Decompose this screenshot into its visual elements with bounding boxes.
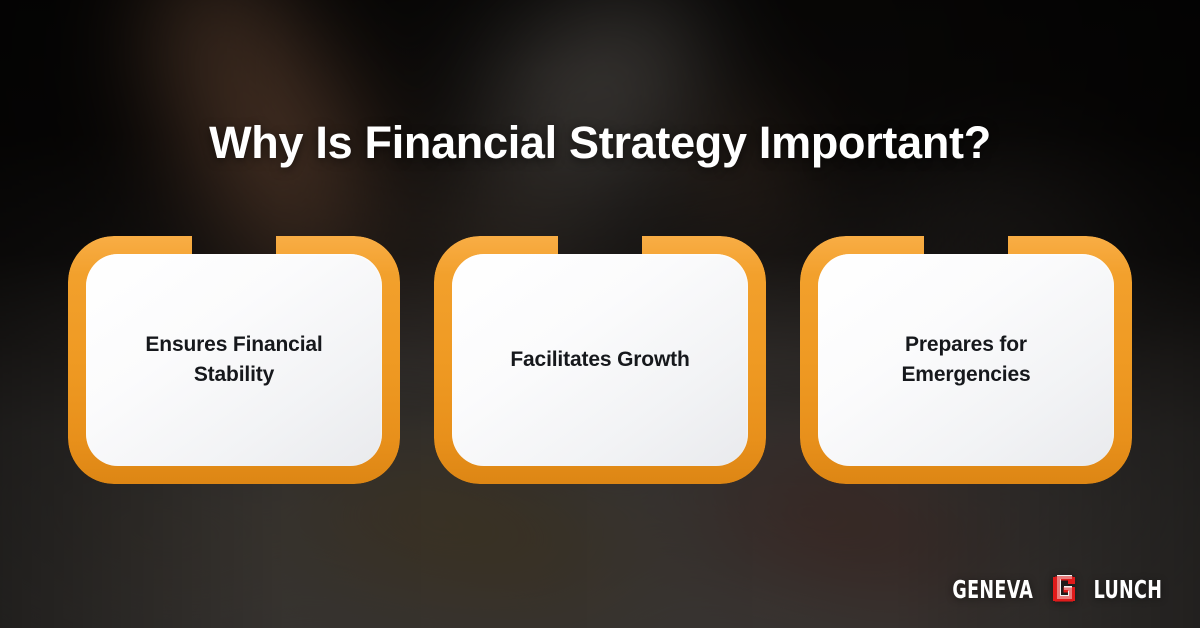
card-label-2: Facilitates Growth <box>510 345 689 375</box>
card-label-3: Prepares for Emergencies <box>844 330 1088 390</box>
poster-canvas: Why Is Financial Strategy Important? Ens… <box>0 0 1200 628</box>
feature-card-2[interactable]: Facilitates Growth <box>434 236 766 484</box>
card-inner-1: Ensures Financial Stability <box>86 254 382 466</box>
card-inner-3: Prepares for Emergencies <box>818 254 1114 466</box>
logo-text-lunch: LUNCH <box>1094 575 1163 604</box>
feature-card-3[interactable]: Prepares for Emergencies <box>800 236 1132 484</box>
card-label-1: Ensures Financial Stability <box>112 330 356 390</box>
geneva-lunch-g-mark-icon <box>1051 574 1077 604</box>
logo-text-geneva: GENEVA <box>952 575 1033 604</box>
feature-card-1[interactable]: Ensures Financial Stability <box>68 236 400 484</box>
brand-logo[interactable]: GENEVA LUNCH <box>941 574 1172 604</box>
page-title: Why Is Financial Strategy Important? <box>0 118 1200 168</box>
card-row: Ensures Financial Stability Facilitates … <box>68 236 1132 484</box>
card-inner-2: Facilitates Growth <box>452 254 748 466</box>
